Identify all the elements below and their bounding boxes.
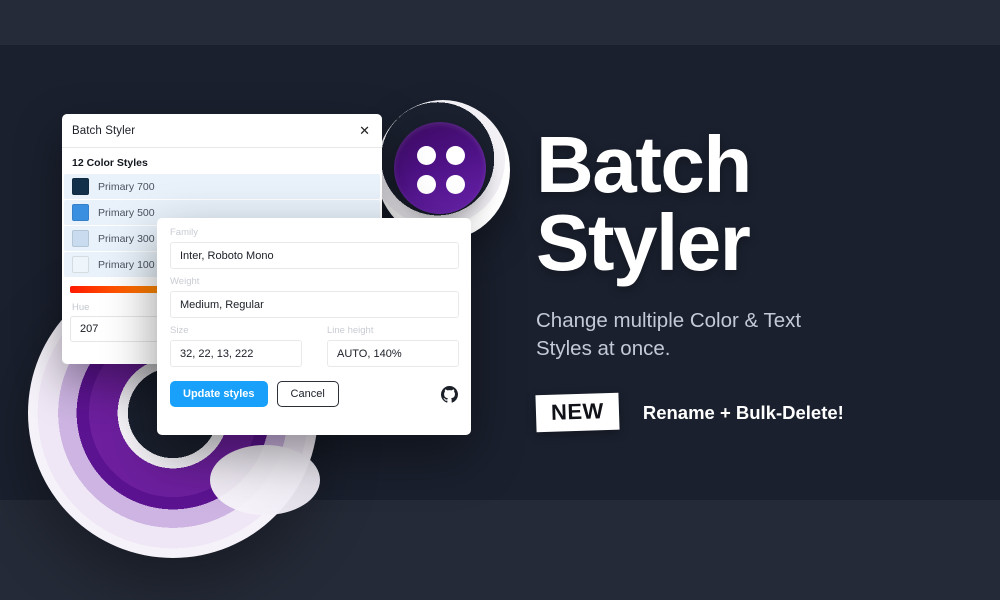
update-styles-button[interactable]: Update styles <box>170 381 268 407</box>
promo-banner: Batch Styler ✕ 12 Color Styles Primary 7… <box>0 0 1000 600</box>
new-feature-row: NEW Rename + Bulk-Delete! <box>536 394 976 431</box>
color-swatch <box>72 204 89 221</box>
style-name: Primary 300 <box>98 233 155 245</box>
logo-dot-icon <box>446 146 465 165</box>
subtitle-line-1: Change multiple Color & Text <box>536 307 976 334</box>
style-name: Primary 100 <box>98 259 155 271</box>
weight-label: Weight <box>157 269 471 291</box>
cancel-button[interactable]: Cancel <box>277 381 339 407</box>
hero-subtitle: Change multiple Color & Text Styles at o… <box>536 307 976 362</box>
status-badge: NEW <box>535 393 619 433</box>
subtitle-line-2: Styles at once. <box>536 335 976 362</box>
style-name: Primary 500 <box>98 207 155 219</box>
section-title: 12 Color Styles <box>62 148 382 174</box>
github-icon[interactable] <box>441 386 458 403</box>
family-label: Family <box>157 220 471 242</box>
title-line-1: Batch <box>536 126 976 204</box>
title-line-2: Styler <box>536 204 976 282</box>
new-feature-text: Rename + Bulk-Delete! <box>643 402 844 424</box>
panel-header: Batch Styler ✕ <box>62 114 382 148</box>
line-height-input[interactable]: AUTO, 140% <box>327 340 459 367</box>
close-icon[interactable]: ✕ <box>359 124 370 137</box>
text-styles-panel: Family Inter, Roboto Mono Weight Medium,… <box>157 218 471 435</box>
panel-title: Batch Styler <box>72 125 135 137</box>
background-band-top <box>0 0 1000 45</box>
panel-footer: Update styles Cancel <box>157 367 471 407</box>
size-lineheight-row: Size 32, 22, 13, 222 Line height AUTO, 1… <box>157 318 471 367</box>
size-input[interactable]: 32, 22, 13, 222 <box>170 340 302 367</box>
hero-section: Batch Styler Change multiple Color & Tex… <box>536 126 976 431</box>
list-item[interactable]: Primary 700 <box>64 174 380 199</box>
weight-input[interactable]: Medium, Regular <box>170 291 459 318</box>
color-swatch <box>72 230 89 247</box>
logo-core <box>394 122 486 214</box>
line-height-label: Line height <box>314 318 471 340</box>
family-input[interactable]: Inter, Roboto Mono <box>170 242 459 269</box>
logo-dot-icon <box>417 146 436 165</box>
color-swatch <box>72 178 89 195</box>
logo-dot-icon <box>417 175 436 194</box>
style-name: Primary 700 <box>98 181 155 193</box>
logo-dot-icon <box>446 175 465 194</box>
color-swatch <box>72 256 89 273</box>
page-title: Batch Styler <box>536 126 976 281</box>
decorative-ring-tail <box>210 445 320 515</box>
size-label: Size <box>157 318 314 340</box>
